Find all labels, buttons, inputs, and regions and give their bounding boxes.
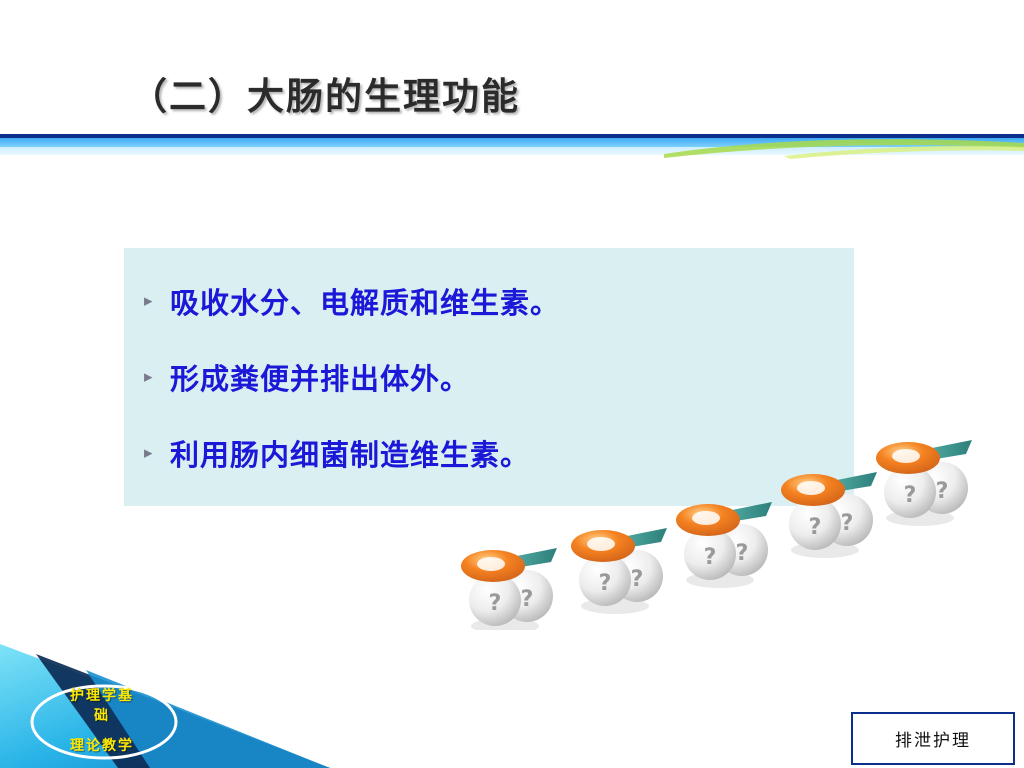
band-swoosh-decoration (664, 134, 1024, 160)
slide-canvas: （二）大肠的生理功能 ▸ 吸收水分、电解质和维生素。 ▸ 形成粪便并排出体外。 … (0, 0, 1024, 768)
list-item: ▸ 形成粪便并排出体外。 (144, 356, 470, 398)
svg-text:?: ? (736, 541, 749, 566)
bullet-arrow-icon: ▸ (144, 369, 170, 386)
corner-label-line1: 护理学基 础 (42, 686, 162, 726)
list-item: ▸ 吸收水分、电解质和维生素。 (144, 280, 560, 322)
bullet-text: 形成粪便并排出体外。 (170, 356, 470, 398)
svg-text:?: ? (904, 483, 917, 508)
corner-label-text1: 护理学基 (70, 688, 134, 704)
footer-tag: 排泄护理 (851, 712, 1015, 765)
page-title: （二）大肠的生理功能 (130, 66, 520, 120)
svg-text:?: ? (489, 591, 502, 616)
corner-label-text2: 础 (94, 708, 110, 724)
bullet-arrow-icon: ▸ (144, 445, 170, 462)
svg-text:?: ? (521, 587, 534, 612)
bullet-text: 吸收水分、电解质和维生素。 (170, 280, 560, 322)
svg-text:?: ? (936, 479, 949, 504)
svg-text:?: ? (704, 545, 717, 570)
svg-text:?: ? (599, 571, 612, 596)
bullet-arrow-icon: ▸ (144, 293, 170, 310)
svg-text:?: ? (631, 567, 644, 592)
header-divider-band (0, 134, 1024, 160)
svg-text:?: ? (841, 511, 854, 536)
svg-text:?: ? (809, 515, 822, 540)
footer-tag-label: 排泄护理 (895, 726, 971, 751)
corner-label-line3: 理论教学 (42, 735, 162, 755)
spoon-ball-cluster-decoration: ? ? ? ? ? (440, 430, 1000, 630)
